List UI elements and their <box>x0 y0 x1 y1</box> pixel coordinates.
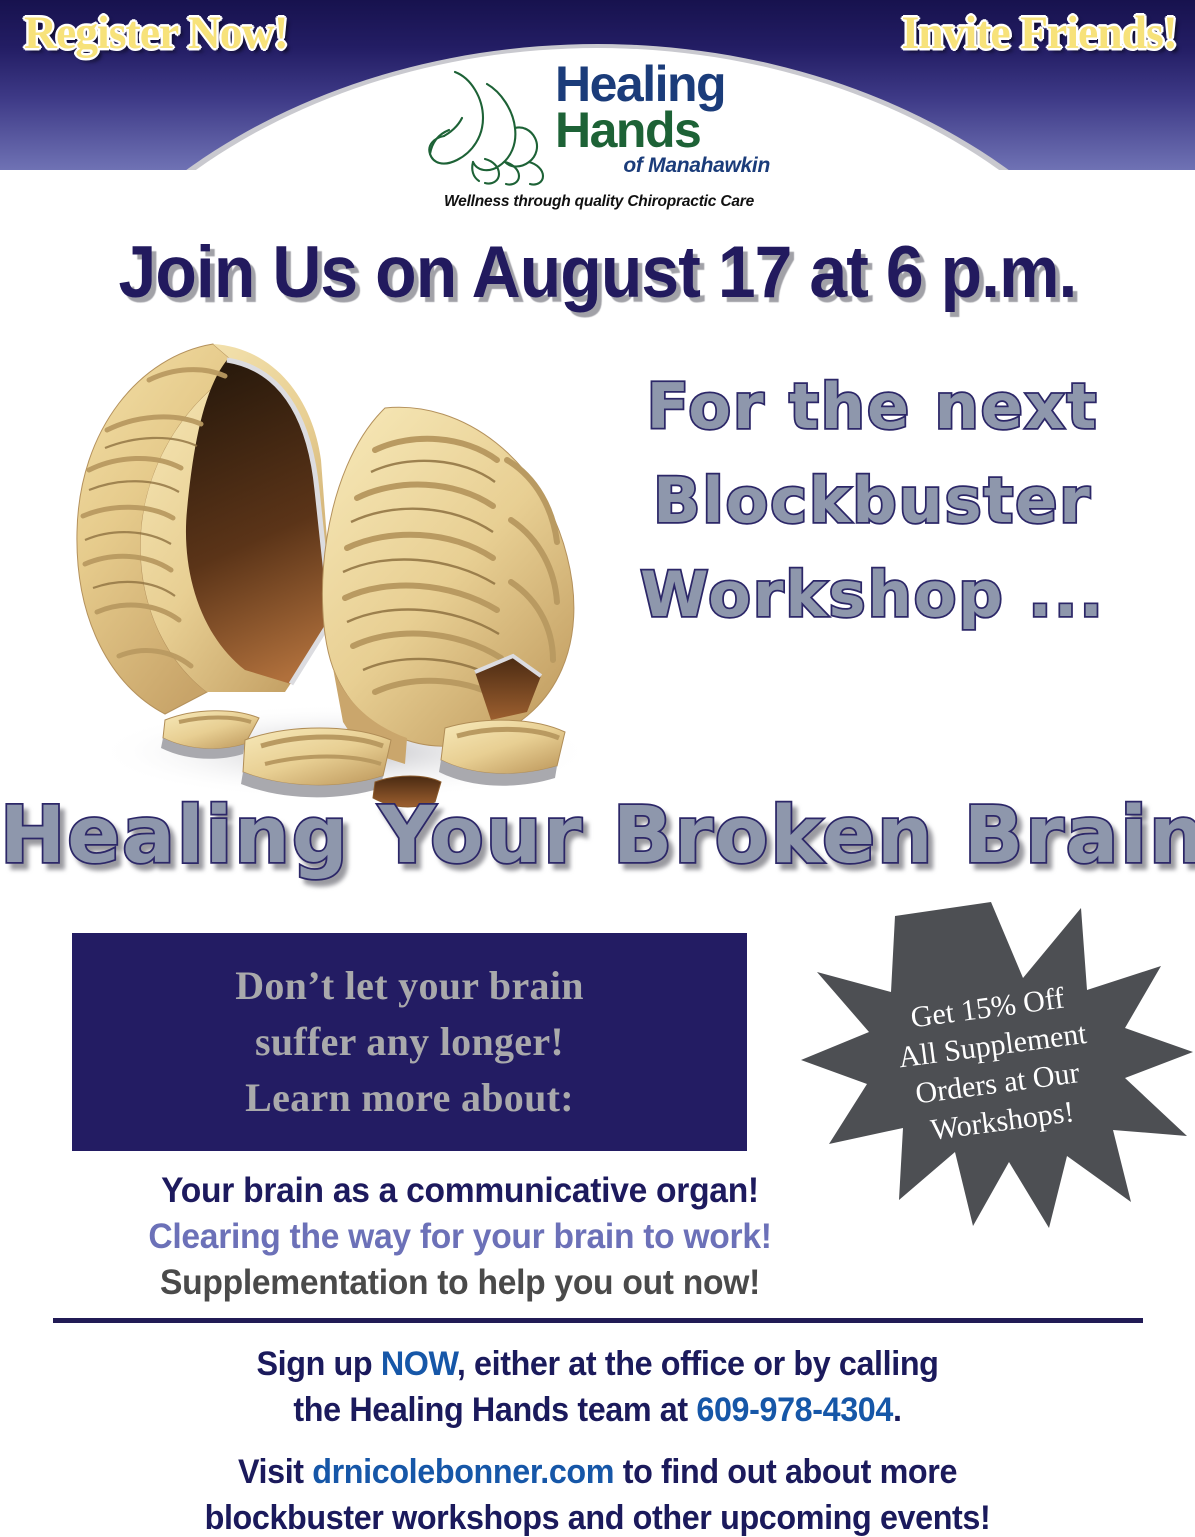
logo-tagline: Wellness through quality Chiropractic Ca… <box>424 193 774 211</box>
workshop-teaser-heading: For the next Blockbuster Workshop ... <box>565 360 1180 642</box>
signup-line-2: the Healing Hands team at 609-978-4304. <box>30 1387 1165 1433</box>
signup-text-d: . <box>893 1391 902 1429</box>
teaser-line-1: For the next <box>565 360 1180 454</box>
phone-number[interactable]: 609-978-4304 <box>696 1391 893 1429</box>
workshop-title: Healing Your Broken Brain <box>0 788 1195 884</box>
website-line-1: Visit drnicolebonner.com to find out abo… <box>30 1449 1165 1495</box>
topic-item-1: Your brain as a communicative organ! <box>47 1168 873 1214</box>
healing-hands-logo: Healing Hands of Manahawkin Wellness thr… <box>425 62 770 217</box>
website-line-2: blockbuster workshops and other upcoming… <box>30 1495 1165 1537</box>
callout-line-1: Don’t let your brain <box>235 958 584 1014</box>
website-text-a: Visit <box>238 1453 312 1491</box>
footer-divider <box>53 1318 1143 1323</box>
signup-line-1: Sign up NOW, either at the office or by … <box>30 1341 1165 1387</box>
teaser-line-2: Blockbuster <box>565 454 1180 548</box>
invite-friends-cta[interactable]: Invite Friends! <box>902 6 1177 60</box>
signup-text-c: the Healing Hands team at <box>293 1391 696 1429</box>
two-hands-icon <box>425 64 555 189</box>
signup-text-a: Sign up <box>256 1345 380 1383</box>
signup-instructions: Sign up NOW, either at the office or by … <box>0 1341 1195 1433</box>
callout-line-3: Learn more about: <box>245 1070 574 1126</box>
register-now-cta[interactable]: Register Now! <box>24 6 288 60</box>
callout-box: Don’t let your brain suffer any longer! … <box>72 933 747 1151</box>
topic-item-2: Clearing the way for your brain to work! <box>47 1214 873 1260</box>
signup-now-emphasis: NOW <box>381 1345 457 1383</box>
event-headline: Join Us on August 17 at 6 p.m. <box>42 232 1153 314</box>
flyer-page: Register Now! Invite Friends! Healing <box>0 0 1195 1537</box>
website-link[interactable]: drnicolebonner.com <box>312 1453 614 1491</box>
logo-word-healing: Healing <box>555 62 770 106</box>
website-text-b: to find out about more <box>614 1453 957 1491</box>
topic-item-3: Supplementation to help you out now! <box>47 1260 873 1306</box>
website-instructions: Visit drnicolebonner.com to find out abo… <box>0 1449 1195 1537</box>
logo-wordmark: Healing Hands of Manahawkin <box>555 62 770 178</box>
callout-line-2: suffer any longer! <box>255 1014 564 1070</box>
teaser-line-3: Workshop ... <box>565 548 1180 642</box>
topic-list: Your brain as a communicative organ! Cle… <box>30 1168 890 1306</box>
signup-text-b: , either at the office or by calling <box>457 1345 939 1383</box>
logo-word-hands: Hands <box>555 106 770 154</box>
